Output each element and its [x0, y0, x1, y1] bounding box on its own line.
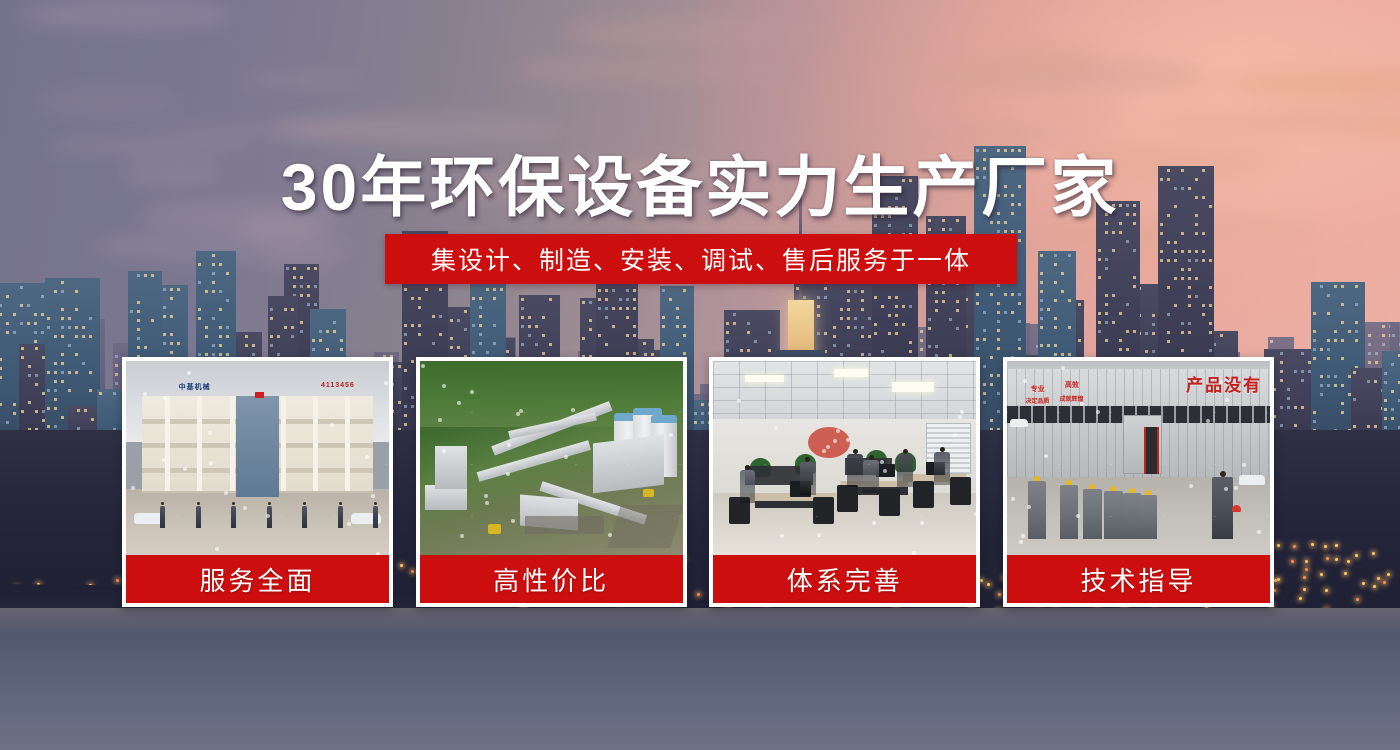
- watermark-dot: [507, 443, 511, 447]
- window-light: [1040, 254, 1043, 257]
- card-caption-text: 服务全面: [199, 561, 315, 598]
- window-light: [1280, 361, 1283, 364]
- window-light: [1167, 286, 1170, 289]
- window-light: [1280, 352, 1283, 355]
- window-light: [1054, 254, 1057, 257]
- window-light: [1119, 339, 1122, 342]
- window-light: [1320, 393, 1323, 396]
- window-light: [1152, 323, 1155, 326]
- window-light: [1368, 361, 1371, 364]
- window-light: [909, 305, 912, 308]
- window-light: [920, 330, 923, 333]
- window-light: [542, 316, 545, 319]
- watermark-dot: [1019, 540, 1023, 544]
- window-light: [0, 304, 2, 307]
- window-light: [28, 365, 31, 368]
- window-light: [41, 331, 44, 334]
- window-light: [626, 352, 629, 355]
- window-light: [521, 343, 524, 346]
- window-light: [1119, 348, 1122, 351]
- window-light: [1195, 232, 1198, 235]
- window-light: [270, 317, 273, 320]
- window-light: [1301, 352, 1304, 355]
- window-light: [1209, 349, 1212, 352]
- window-light: [47, 326, 50, 329]
- window-light: [54, 290, 57, 293]
- shore-light: [1324, 545, 1327, 548]
- watermark-dot: [371, 494, 375, 498]
- window-light: [833, 335, 836, 338]
- window-light: [1327, 339, 1330, 342]
- window-light: [868, 335, 871, 338]
- window-light: [219, 326, 222, 329]
- watermark-dot: [669, 433, 673, 437]
- shore-light: [1383, 581, 1386, 584]
- window-light: [528, 334, 531, 337]
- window-light: [439, 333, 442, 336]
- window-light: [754, 340, 757, 343]
- scene-office-interior: [713, 361, 976, 555]
- window-light: [1152, 314, 1155, 317]
- window-light: [535, 325, 538, 328]
- window-light: [1181, 331, 1184, 334]
- window-light: [983, 311, 986, 314]
- window-light: [1320, 375, 1323, 378]
- watermark-dot: [187, 371, 191, 375]
- watermark-dot: [960, 410, 964, 414]
- window-light: [549, 298, 552, 301]
- window-light: [404, 342, 407, 345]
- window-light: [314, 267, 317, 270]
- window-light: [1068, 254, 1071, 257]
- window-light: [598, 289, 601, 292]
- window-light: [47, 425, 50, 428]
- window-light: [35, 383, 38, 386]
- watermark-dot: [1257, 530, 1261, 534]
- window-light: [643, 342, 646, 345]
- window-light: [472, 351, 475, 354]
- window-light: [27, 322, 30, 325]
- window-light: [1382, 334, 1385, 337]
- window-light: [307, 267, 310, 270]
- window-light: [28, 374, 31, 377]
- window-light: [20, 322, 23, 325]
- window-light: [75, 290, 78, 293]
- window-light: [1188, 286, 1191, 289]
- window-light: [521, 307, 524, 310]
- window-light: [1202, 304, 1205, 307]
- window-light: [1054, 344, 1057, 347]
- window-light: [997, 338, 1000, 341]
- scene-headquarters: 中基机械 4113456: [126, 361, 389, 555]
- window-light: [888, 332, 891, 335]
- window-light: [1374, 425, 1377, 428]
- watermark-dot: [421, 364, 425, 368]
- window-light: [1195, 259, 1198, 262]
- window-light: [1098, 258, 1101, 261]
- window-light: [61, 353, 64, 356]
- window-light: [286, 267, 289, 270]
- window-light: [307, 303, 310, 306]
- window-light: [13, 412, 16, 415]
- window-light: [312, 348, 315, 351]
- window-light: [1368, 352, 1371, 355]
- window-light: [633, 334, 636, 337]
- card-caption-bar: 服务全面: [126, 555, 389, 603]
- window-light: [1181, 250, 1184, 253]
- window-light: [47, 371, 50, 374]
- window-light: [41, 313, 44, 316]
- window-light: [212, 281, 215, 284]
- window-light: [888, 296, 891, 299]
- window-light: [1341, 402, 1344, 405]
- watermark-dot: [519, 409, 523, 413]
- window-light: [1287, 397, 1290, 400]
- watermark-dot: [224, 491, 228, 495]
- window-light: [284, 308, 287, 311]
- window-light: [1368, 334, 1371, 337]
- window-light: [68, 344, 71, 347]
- window-light: [1188, 304, 1191, 307]
- window-light: [598, 334, 601, 337]
- shore-light: [1377, 577, 1380, 580]
- window-light: [212, 290, 215, 293]
- window-light: [479, 333, 482, 336]
- window-light: [747, 322, 750, 325]
- window-light: [163, 333, 166, 336]
- window-light: [177, 342, 180, 345]
- watermark-dot: [1242, 463, 1246, 467]
- window-light: [1195, 250, 1198, 253]
- window-light: [1348, 330, 1351, 333]
- window-light: [1313, 411, 1316, 414]
- window-light: [895, 296, 898, 299]
- window-light: [1313, 420, 1316, 423]
- window-light: [1167, 340, 1170, 343]
- window-light: [464, 328, 467, 331]
- window-light: [1167, 331, 1170, 334]
- window-light: [1098, 330, 1101, 333]
- window-light: [1167, 259, 1170, 262]
- window-light: [61, 371, 64, 374]
- window-light: [425, 288, 428, 291]
- window-light: [1133, 276, 1136, 279]
- window-light: [1018, 293, 1021, 296]
- window-light: [75, 308, 78, 311]
- watermark-dot: [953, 433, 957, 437]
- feature-card-value[interactable]: 高性价比: [416, 357, 687, 607]
- window-light: [1368, 343, 1371, 346]
- window-light: [1209, 322, 1212, 325]
- window-light: [300, 285, 303, 288]
- window-light: [293, 267, 296, 270]
- window-light: [333, 321, 336, 324]
- window-light: [612, 325, 615, 328]
- watermark-dot: [958, 415, 962, 419]
- window-light: [1294, 370, 1297, 373]
- window-light: [976, 293, 979, 296]
- window-light: [633, 298, 636, 301]
- window-light: [75, 335, 78, 338]
- window-light: [935, 300, 938, 303]
- window-light: [130, 310, 133, 313]
- watermark-dot: [208, 431, 212, 435]
- window-light: [34, 313, 37, 316]
- window-light: [895, 323, 898, 326]
- window-light: [75, 371, 78, 374]
- window-light: [151, 319, 154, 322]
- subtitle-banner: 集设计、制造、安装、调试、售后服务于一体: [385, 234, 1017, 284]
- watermark-dot: [209, 461, 213, 465]
- window-light: [293, 276, 296, 279]
- card-caption-text: 体系完善: [787, 561, 903, 598]
- window-light: [676, 343, 679, 346]
- window-light: [644, 353, 647, 356]
- window-light: [226, 272, 229, 275]
- window-light: [6, 331, 9, 334]
- window-light: [99, 392, 102, 395]
- window-light: [450, 337, 453, 340]
- window-light: [450, 319, 453, 322]
- window-light: [1355, 285, 1358, 288]
- window-light: [1174, 259, 1177, 262]
- window-light: [333, 330, 336, 333]
- window-light: [163, 342, 166, 345]
- window-light: [909, 341, 912, 344]
- window-light: [1202, 232, 1205, 235]
- window-light: [935, 291, 938, 294]
- window-light: [847, 344, 850, 347]
- card-thumbnail-headquarters: 中基机械 4113456: [126, 361, 389, 555]
- window-light: [13, 331, 16, 334]
- watermark-dot: [920, 521, 924, 525]
- window-light: [314, 285, 317, 288]
- window-light: [486, 351, 489, 354]
- window-light: [874, 296, 877, 299]
- window-light: [177, 288, 180, 291]
- window-light: [245, 344, 248, 347]
- window-light: [21, 356, 24, 359]
- window-light: [277, 353, 280, 356]
- window-light: [1313, 330, 1316, 333]
- window-light: [13, 313, 16, 316]
- window-light: [61, 335, 64, 338]
- window-light: [457, 319, 460, 322]
- feature-card-grid: 中基机械 4113456 服务全面: [122, 357, 1274, 607]
- window-light: [314, 303, 317, 306]
- window-light: [245, 335, 248, 338]
- watermark-overlay: [126, 361, 389, 555]
- window-light: [589, 301, 592, 304]
- feature-card-training[interactable]: 产品没有 专业 高效 成就辉煌 决定品质 技术指导: [1003, 357, 1274, 607]
- window-light: [1188, 331, 1191, 334]
- window-light: [404, 333, 407, 336]
- window-light: [1040, 281, 1043, 284]
- window-light: [521, 298, 524, 301]
- watermark-dot: [470, 390, 474, 394]
- watermark-dot: [266, 514, 270, 518]
- window-light: [493, 297, 496, 300]
- feature-card-service[interactable]: 中基机械 4113456 服务全面: [122, 357, 393, 607]
- watermark-dot: [384, 381, 388, 385]
- window-light: [1280, 406, 1283, 409]
- window-light: [895, 305, 898, 308]
- window-light: [726, 349, 729, 352]
- window-light: [42, 410, 45, 413]
- window-light: [300, 321, 303, 324]
- watermark-dot: [826, 445, 830, 449]
- window-light: [605, 307, 608, 310]
- window-light: [472, 324, 475, 327]
- window-light: [479, 306, 482, 309]
- window-light: [34, 340, 37, 343]
- window-light: [1353, 425, 1356, 428]
- window-light: [1119, 231, 1122, 234]
- window-light: [34, 322, 37, 325]
- window-light: [1112, 249, 1115, 252]
- watermark-dot: [883, 469, 887, 473]
- window-light: [1098, 312, 1101, 315]
- window-light: [1334, 330, 1337, 333]
- window-light: [1098, 276, 1101, 279]
- window-light: [61, 281, 64, 284]
- watermark-dot: [131, 486, 135, 490]
- window-light: [598, 307, 601, 310]
- window-light: [1188, 250, 1191, 253]
- watermark-dot: [1076, 514, 1080, 518]
- feature-card-system[interactable]: 体系完善: [709, 357, 980, 607]
- window-light: [1181, 232, 1184, 235]
- window-light: [651, 353, 654, 356]
- window-light: [840, 353, 843, 356]
- window-light: [198, 353, 201, 356]
- window-light: [956, 300, 959, 303]
- shore-light: [1355, 554, 1358, 557]
- window-light: [605, 316, 608, 319]
- window-light: [1167, 313, 1170, 316]
- window-light: [1188, 268, 1191, 271]
- window-light: [1145, 350, 1148, 353]
- window-light: [479, 324, 482, 327]
- window-light: [1105, 267, 1108, 270]
- window-light: [990, 293, 993, 296]
- window-light: [205, 326, 208, 329]
- window-light: [170, 342, 173, 345]
- shore-light: [1347, 560, 1350, 563]
- window-light: [68, 317, 71, 320]
- shore-light: [1303, 576, 1306, 579]
- window-light: [521, 325, 524, 328]
- watermark-overlay: [420, 361, 683, 555]
- window-light: [589, 319, 592, 322]
- window-light: [633, 289, 636, 292]
- window-light: [1145, 332, 1148, 335]
- watermark-dot: [1189, 484, 1193, 488]
- window-light: [589, 328, 592, 331]
- window-light: [895, 332, 898, 335]
- window-light: [418, 324, 421, 327]
- shore-light: [1277, 578, 1280, 581]
- window-light: [1384, 372, 1387, 375]
- window-light: [226, 326, 229, 329]
- window-light: [662, 316, 665, 319]
- window-light: [619, 307, 622, 310]
- window-light: [1105, 231, 1108, 234]
- window-light: [847, 317, 850, 320]
- window-light: [1188, 295, 1191, 298]
- window-light: [1061, 290, 1064, 293]
- window-light: [307, 294, 310, 297]
- window-light: [1181, 277, 1184, 280]
- watermark-dot: [442, 449, 446, 453]
- window-light: [493, 342, 496, 345]
- watermark-dot: [485, 501, 489, 505]
- watermark-dot: [484, 494, 488, 498]
- window-light: [1334, 339, 1337, 342]
- window-light: [291, 335, 294, 338]
- window-light: [54, 389, 57, 392]
- window-light: [1384, 399, 1387, 402]
- window-light: [54, 407, 57, 410]
- shore-light: [1277, 544, 1280, 547]
- window-light: [170, 288, 173, 291]
- window-light: [270, 335, 273, 338]
- window-light: [1054, 263, 1057, 266]
- window-light: [170, 333, 173, 336]
- window-light: [75, 353, 78, 356]
- watermark-dot: [1011, 497, 1015, 501]
- watermark-dot: [1021, 534, 1025, 538]
- window-light: [935, 309, 938, 312]
- promotional-hero-banner: 30年环保设备实力生产厂家 集设计、制造、安装、调试、售后服务于一体: [0, 0, 1400, 750]
- window-light: [432, 342, 435, 345]
- window-light: [997, 230, 1000, 233]
- window-light: [747, 349, 750, 352]
- window-light: [909, 350, 912, 353]
- window-light: [1327, 312, 1330, 315]
- window-light: [137, 319, 140, 322]
- window-light: [833, 326, 836, 329]
- window-light: [1341, 339, 1344, 342]
- window-light: [626, 334, 629, 337]
- watermark-dot: [836, 429, 840, 433]
- page-title: 30年环保设备实力生产厂家: [0, 134, 1400, 230]
- watermark-dot: [880, 460, 884, 464]
- window-light: [198, 281, 201, 284]
- window-light: [1061, 272, 1064, 275]
- window-light: [528, 325, 531, 328]
- window-light: [319, 339, 322, 342]
- window-light: [662, 289, 665, 292]
- window-light: [212, 272, 215, 275]
- window-light: [1018, 239, 1021, 242]
- window-light: [1047, 344, 1050, 347]
- watermark-dot: [457, 401, 461, 405]
- card-caption-bar: 技术指导: [1007, 555, 1270, 603]
- window-light: [219, 290, 222, 293]
- window-light: [683, 289, 686, 292]
- window-light: [1320, 285, 1323, 288]
- window-light: [137, 310, 140, 313]
- window-light: [300, 294, 303, 297]
- window-light: [54, 380, 57, 383]
- window-light: [89, 371, 92, 374]
- window-light: [1301, 406, 1304, 409]
- watermark-dot: [365, 455, 369, 459]
- window-light: [619, 298, 622, 301]
- window-light: [1098, 249, 1101, 252]
- window-light: [1126, 348, 1129, 351]
